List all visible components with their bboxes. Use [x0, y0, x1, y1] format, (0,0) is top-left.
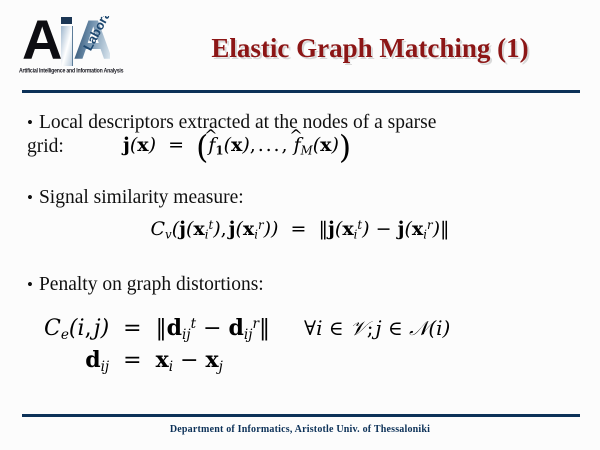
slide-footer: Department of Informatics, Aristotle Uni… [0, 424, 600, 435]
formula-dij-rhs: xi − xj [156, 344, 270, 376]
bullet-marker-1: • [27, 113, 39, 132]
page-title: Elastic Graph Matching (1) [150, 32, 590, 64]
formula-row-dij: dij = xi − xj [44, 344, 450, 376]
footer-divider [22, 414, 580, 417]
formula-descriptor-vector: j(x) = (^f1(x), . . . , ^fM(x)) [123, 130, 351, 166]
header-divider [22, 90, 580, 93]
bullet-text-2: Signal similarity measure: [39, 187, 244, 208]
logo-letter-i-dot [61, 17, 72, 24]
slide-body: •Local descriptors extracted at the node… [0, 100, 600, 410]
logo-laboratory-banner: Laboratory [78, 16, 138, 66]
formula-ce-rhs: ‖dijt − dijr‖ [156, 312, 270, 344]
formula-ce-equals: = [123, 312, 155, 344]
formula-edge-penalty: Ce(i, j) = ‖dijt − dijr‖ ∀i ∈ 𝒱; j ∈ 𝒩(i… [44, 312, 564, 376]
formula-signal-similarity: Cv(j(xit), j(xir)) = ‖j(xit) − j(xir)‖ [0, 218, 600, 240]
formula-dij-condition-empty [270, 344, 450, 376]
formula-dij-equals: = [123, 344, 155, 376]
bullet-item-1-cont: grid: [27, 134, 64, 159]
formula-row-ce: Ce(i, j) = ‖dijt − dijr‖ ∀i ∈ 𝒱; j ∈ 𝒩(i… [44, 312, 450, 344]
bullet-marker-2: • [27, 188, 39, 207]
formula-dij-lhs: dij [44, 344, 123, 376]
slide-header: A A Laboratory Artificial Intelligence a… [0, 0, 600, 92]
bullet-item-2: •Signal similarity measure: [27, 185, 244, 210]
logo-letter-i-stem [61, 26, 73, 66]
logo-mark: A A Laboratory [18, 10, 138, 68]
formula-ce-lhs: Ce(i, j) [44, 312, 123, 344]
logo-letter-a-first: A [22, 12, 59, 68]
logo-banner-label: Laboratory [80, 16, 125, 53]
aiia-lab-logo: A A Laboratory Artificial Intelligence a… [18, 10, 138, 82]
bullet-text-1-line2: grid: [27, 136, 64, 157]
bullet-marker-3: • [27, 275, 39, 294]
bullet-item-3: •Penalty on graph distortions: [27, 272, 264, 297]
logo-caption: Artificial Intelligence and Information … [19, 68, 141, 75]
bullet-text-3: Penalty on graph distortions: [39, 274, 264, 295]
formula-ce-condition: ∀i ∈ 𝒱; j ∈ 𝒩(i) [270, 312, 450, 344]
